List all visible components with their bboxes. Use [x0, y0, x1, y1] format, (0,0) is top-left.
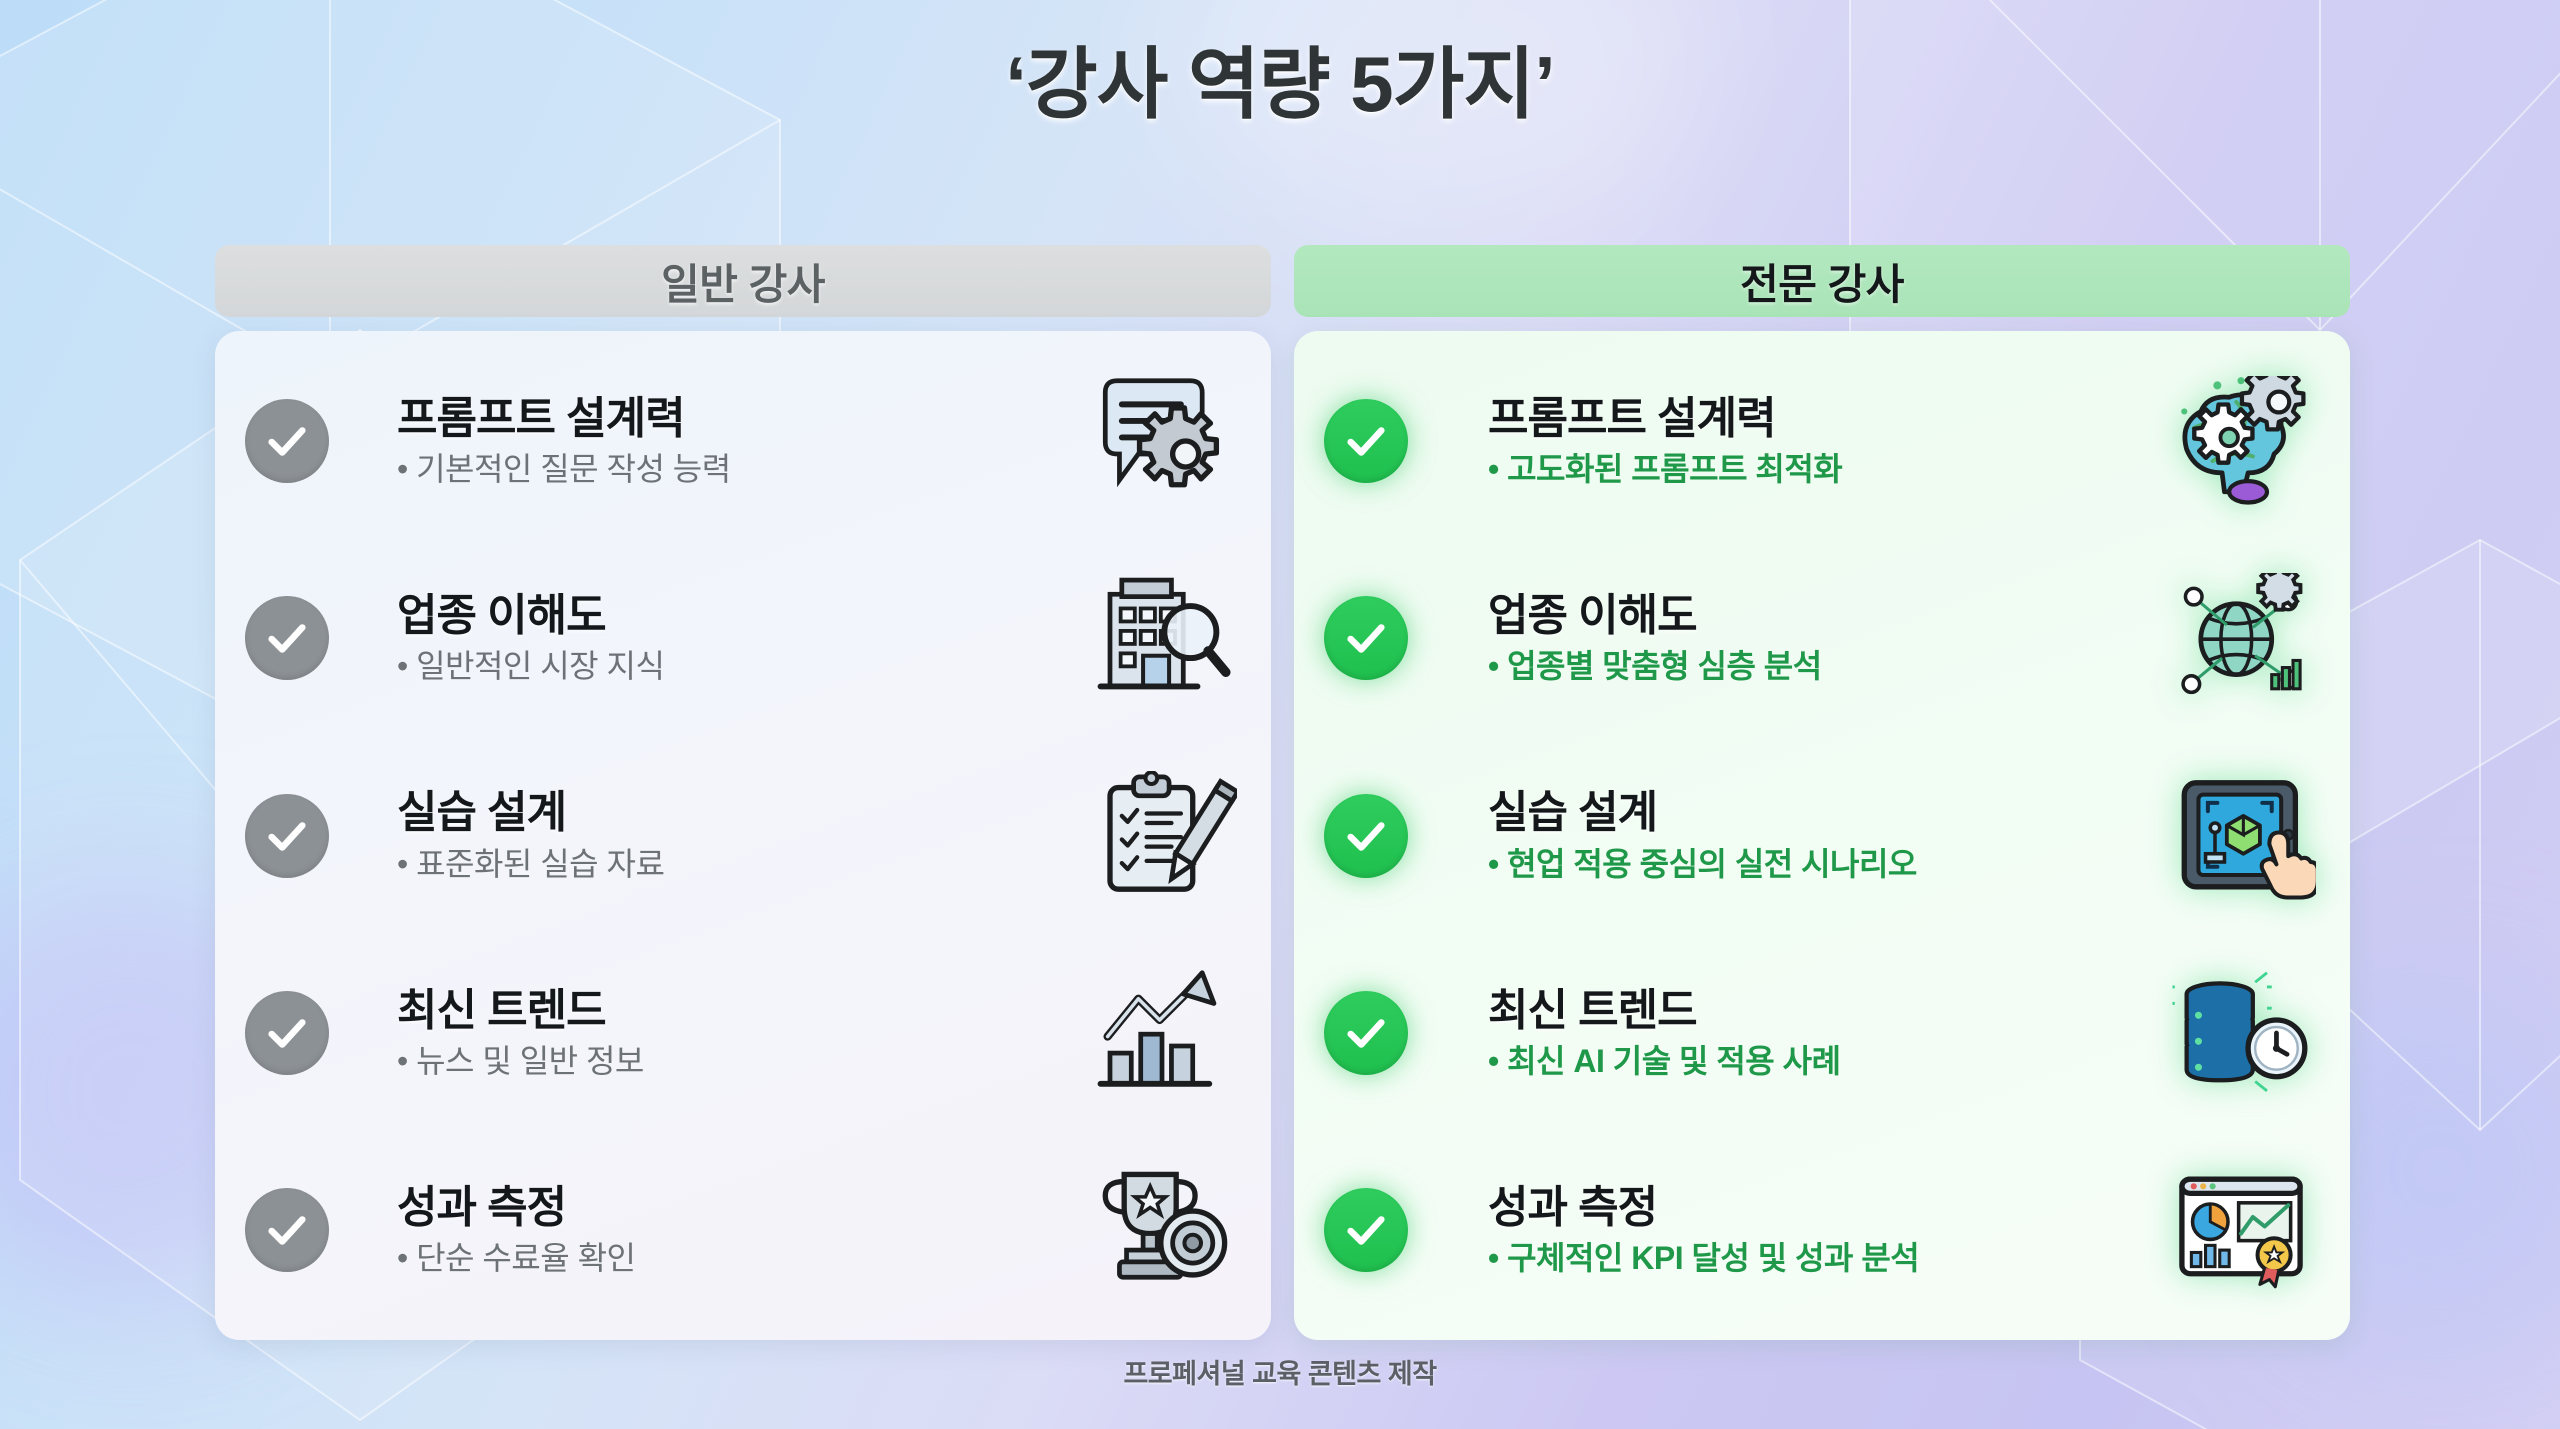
list-item-texts: 성과 측정 • 구체적인 KPI 달성 및 성과 분석: [1430, 1183, 2144, 1277]
list-item[interactable]: 업종 이해도 • 일반적인 시장 지식: [245, 554, 1237, 722]
check-icon: [245, 1188, 329, 1272]
check-icon: [245, 399, 329, 483]
check-icon: [1324, 1188, 1408, 1272]
column-professional-instructor: 전문 강사 프롬프트 설계력 • 고도화된 프롬프트 최적화: [1294, 245, 2350, 1340]
list-item-desc: • 표준화된 실습 자료: [397, 846, 1061, 883]
column-general-instructor: 일반 강사 프롬프트 설계력 • 기본적인 질문 작성 능력: [215, 245, 1271, 1340]
list-item[interactable]: 최신 트렌드 • 뉴스 및 일반 정보: [245, 949, 1237, 1117]
dashboard-badge-icon: [2166, 1165, 2316, 1295]
list-item-title: 프롬프트 설계력: [1488, 394, 2144, 443]
list-item[interactable]: 실습 설계 • 표준화된 실습 자료: [245, 752, 1237, 920]
list-item-title: 최신 트렌드: [1488, 986, 2144, 1035]
list-item-desc: • 고도화된 프롬프트 최적화: [1488, 451, 2144, 488]
list-item-title: 성과 측정: [1488, 1183, 2144, 1232]
list-item-title: 업종 이해도: [1488, 591, 2144, 640]
list-item-desc: • 뉴스 및 일반 정보: [397, 1043, 1061, 1080]
brain-gears-icon: [2166, 376, 2316, 506]
list-item[interactable]: 성과 측정 • 구체적인 KPI 달성 및 성과 분석: [1324, 1146, 2316, 1314]
column-header-professional: 전문 강사: [1294, 245, 2350, 317]
building-search-icon: [1087, 573, 1237, 703]
list-item-title: 최신 트렌드: [397, 986, 1061, 1035]
trophy-target-icon: [1087, 1165, 1237, 1295]
list-item-title: 성과 측정: [397, 1183, 1061, 1232]
list-item[interactable]: 최신 트렌드 • 최신 AI 기술 및 적용 사례: [1324, 949, 2316, 1117]
list-item[interactable]: 성과 측정 • 단순 수료율 확인: [245, 1146, 1237, 1314]
chart-arrow-icon: [1087, 968, 1237, 1098]
clipboard-pencil-icon: [1087, 771, 1237, 901]
list-item-texts: 업종 이해도 • 업종별 맞춤형 심층 분석: [1430, 591, 2144, 685]
list-item-desc: • 최신 AI 기술 및 적용 사례: [1488, 1043, 2144, 1080]
list-item-desc: • 업종별 맞춤형 심층 분석: [1488, 648, 2144, 685]
chat-gear-icon: [1087, 376, 1237, 506]
comparison-board: 일반 강사 프롬프트 설계력 • 기본적인 질문 작성 능력: [215, 245, 2350, 1340]
list-item-texts: 실습 설계 • 표준화된 실습 자료: [355, 788, 1061, 882]
list-item[interactable]: 실습 설계 • 현업 적용 중심의 실전 시나리오: [1324, 752, 2316, 920]
list-item-texts: 최신 트렌드 • 뉴스 및 일반 정보: [355, 986, 1061, 1080]
list-item-texts: 프롬프트 설계력 • 고도화된 프롬프트 최적화: [1430, 394, 2144, 488]
globe-network-icon: [2166, 573, 2316, 703]
page-title: ‘강사 역량 5가지’: [0, 22, 2560, 134]
column-body-general: 프롬프트 설계력 • 기본적인 질문 작성 능력: [215, 331, 1271, 1340]
list-item-texts: 업종 이해도 • 일반적인 시장 지식: [355, 591, 1061, 685]
list-item-title: 실습 설계: [1488, 788, 2144, 837]
list-item-texts: 최신 트렌드 • 최신 AI 기술 및 적용 사례: [1430, 986, 2144, 1080]
list-item-desc: • 구체적인 KPI 달성 및 성과 분석: [1488, 1240, 2144, 1277]
list-item[interactable]: 프롬프트 설계력 • 고도화된 프롬프트 최적화: [1324, 357, 2316, 525]
list-item-desc: • 일반적인 시장 지식: [397, 648, 1061, 685]
list-item-title: 실습 설계: [397, 788, 1061, 837]
check-icon: [245, 794, 329, 878]
check-icon: [1324, 596, 1408, 680]
list-item-desc: • 단순 수료율 확인: [397, 1240, 1061, 1277]
check-icon: [1324, 794, 1408, 878]
check-icon: [245, 596, 329, 680]
list-item-desc: • 기본적인 질문 작성 능력: [397, 451, 1061, 488]
list-item-texts: 프롬프트 설계력 • 기본적인 질문 작성 능력: [355, 394, 1061, 488]
column-body-professional: 프롬프트 설계력 • 고도화된 프롬프트 최적화: [1294, 331, 2350, 1340]
check-icon: [1324, 399, 1408, 483]
list-item-desc: • 현업 적용 중심의 실전 시나리오: [1488, 846, 2144, 883]
list-item-title: 프롬프트 설계력: [397, 394, 1061, 443]
footer-caption: 프로페셔널 교육 콘텐츠 제작: [0, 1352, 2560, 1391]
column-header-general: 일반 강사: [215, 245, 1271, 317]
tablet-touch-icon: [2166, 771, 2316, 901]
list-item[interactable]: 업종 이해도 • 업종별 맞춤형 심층 분석: [1324, 554, 2316, 722]
list-item-texts: 성과 측정 • 단순 수료율 확인: [355, 1183, 1061, 1277]
server-clock-icon: [2166, 968, 2316, 1098]
list-item-title: 업종 이해도: [397, 591, 1061, 640]
list-item[interactable]: 프롬프트 설계력 • 기본적인 질문 작성 능력: [245, 357, 1237, 525]
list-item-texts: 실습 설계 • 현업 적용 중심의 실전 시나리오: [1430, 788, 2144, 882]
check-icon: [1324, 991, 1408, 1075]
check-icon: [245, 991, 329, 1075]
